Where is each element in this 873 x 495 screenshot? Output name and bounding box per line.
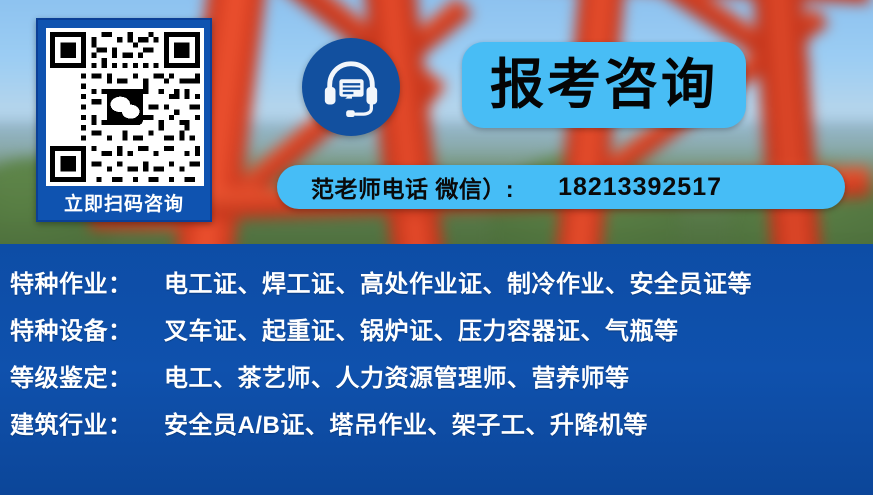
category-value: 安全员A/B证、塔吊作业、架子工、升降机等 [164,405,648,440]
category-key: 特种作业： [10,264,148,299]
category-value: 电工证、焊工证、高处作业证、制冷作业、安全员证等 [164,264,752,299]
category-key: 特种设备： [10,311,148,346]
qr-caption: 立即扫码咨询 [38,188,210,222]
contact-number[interactable]: 18213392517 [558,173,722,202]
qr-code-image[interactable] [46,28,204,186]
category-key: 等级鉴定： [10,358,148,393]
list-item: 建筑行业： 安全员A/B证、塔吊作业、架子工、升降机等 [0,405,873,452]
category-list-panel: 特种作业： 电工证、焊工证、高处作业证、制冷作业、安全员证等 特种设备： 叉车证… [0,244,873,495]
promo-poster: 立即扫码咨询 报考咨询 范老师电话 微信）: 18213392517 特种作业：… [0,0,873,495]
qr-code-icon [50,32,200,182]
headset-support-icon [302,38,400,136]
category-key: 建筑行业： [10,405,148,440]
list-item: 特种设备： 叉车证、起重证、锅炉证、压力容器证、气瓶等 [0,311,873,358]
contact-pill[interactable]: 范老师电话 微信）: 18213392517 [277,165,845,209]
contact-label: 范老师电话 微信）: [311,170,514,204]
list-item: 特种作业： 电工证、焊工证、高处作业证、制冷作业、安全员证等 [0,264,873,311]
qr-card[interactable]: 立即扫码咨询 [36,18,212,222]
page-title: 报考咨询 [490,58,718,112]
wechat-icon [107,89,143,125]
title-pill: 报考咨询 [462,42,746,128]
headset-glyph [320,56,382,118]
list-item: 等级鉴定： 电工、茶艺师、人力资源管理师、营养师等 [0,358,873,405]
category-value: 电工、茶艺师、人力资源管理师、营养师等 [164,358,630,393]
category-value: 叉车证、起重证、锅炉证、压力容器证、气瓶等 [164,311,679,346]
